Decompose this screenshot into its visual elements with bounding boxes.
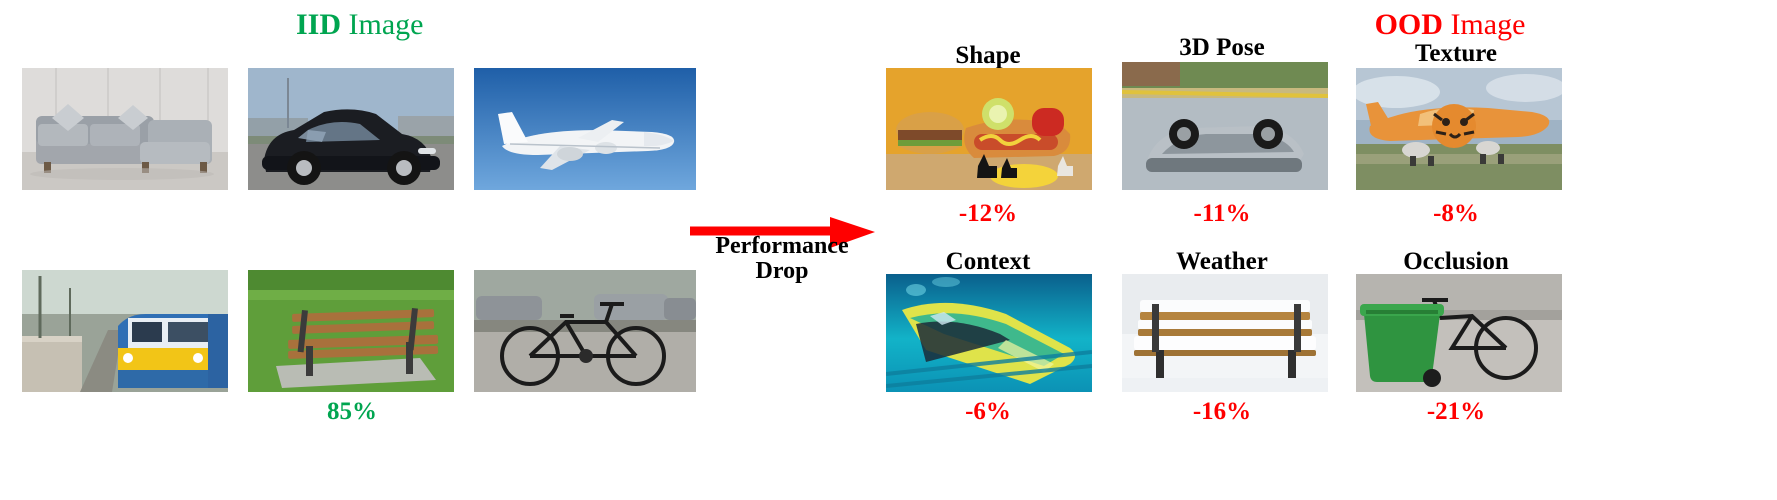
ood-delta-occlusion: -21% xyxy=(1427,398,1485,426)
performance-drop-label-line1: Performance xyxy=(672,234,892,259)
ood-image-3d-pose xyxy=(1122,62,1328,190)
ood-label-occlusion: Occlusion xyxy=(1403,248,1509,276)
ood-label-context: Context xyxy=(946,248,1031,276)
iid-image-airplane xyxy=(474,68,696,190)
ood-delta-texture: -8% xyxy=(1433,200,1479,228)
ood-delta-context: -6% xyxy=(965,398,1011,426)
ood-delta-weather: -16% xyxy=(1193,398,1251,426)
ood-image-occlusion xyxy=(1356,274,1562,392)
ood-label-texture: Texture xyxy=(1415,40,1497,68)
ood-image-context xyxy=(886,274,1092,392)
iid-image-sofa xyxy=(22,68,228,190)
iid-image-bicycle xyxy=(474,270,696,392)
iid-panel-title: IID Image xyxy=(296,8,423,42)
iid-title-strong: IID xyxy=(296,8,341,41)
iid-image-car xyxy=(248,68,454,190)
iid-image-train xyxy=(22,270,228,392)
ood-delta-3d-pose: -11% xyxy=(1194,200,1251,228)
ood-image-shape xyxy=(886,68,1092,190)
ood-vs-iid-figure: IID Image xyxy=(0,0,1777,500)
performance-drop-label-line2: Drop xyxy=(672,259,892,284)
ood-image-texture xyxy=(1356,68,1562,190)
ood-panel-title: OOD Image xyxy=(1375,8,1526,42)
ood-title-rest: Image xyxy=(1443,8,1525,41)
ood-delta-shape: -12% xyxy=(959,200,1017,228)
ood-label-3d-pose: 3D Pose xyxy=(1179,34,1264,62)
iid-title-rest: Image xyxy=(341,8,423,41)
ood-label-weather: Weather xyxy=(1176,248,1268,276)
iid-accuracy-value: 85% xyxy=(327,398,377,426)
iid-image-bench xyxy=(248,270,454,392)
ood-title-strong: OOD xyxy=(1375,8,1443,41)
performance-drop-label: Performance Drop xyxy=(672,234,892,284)
ood-image-weather xyxy=(1122,274,1328,392)
ood-label-shape: Shape xyxy=(955,42,1020,70)
